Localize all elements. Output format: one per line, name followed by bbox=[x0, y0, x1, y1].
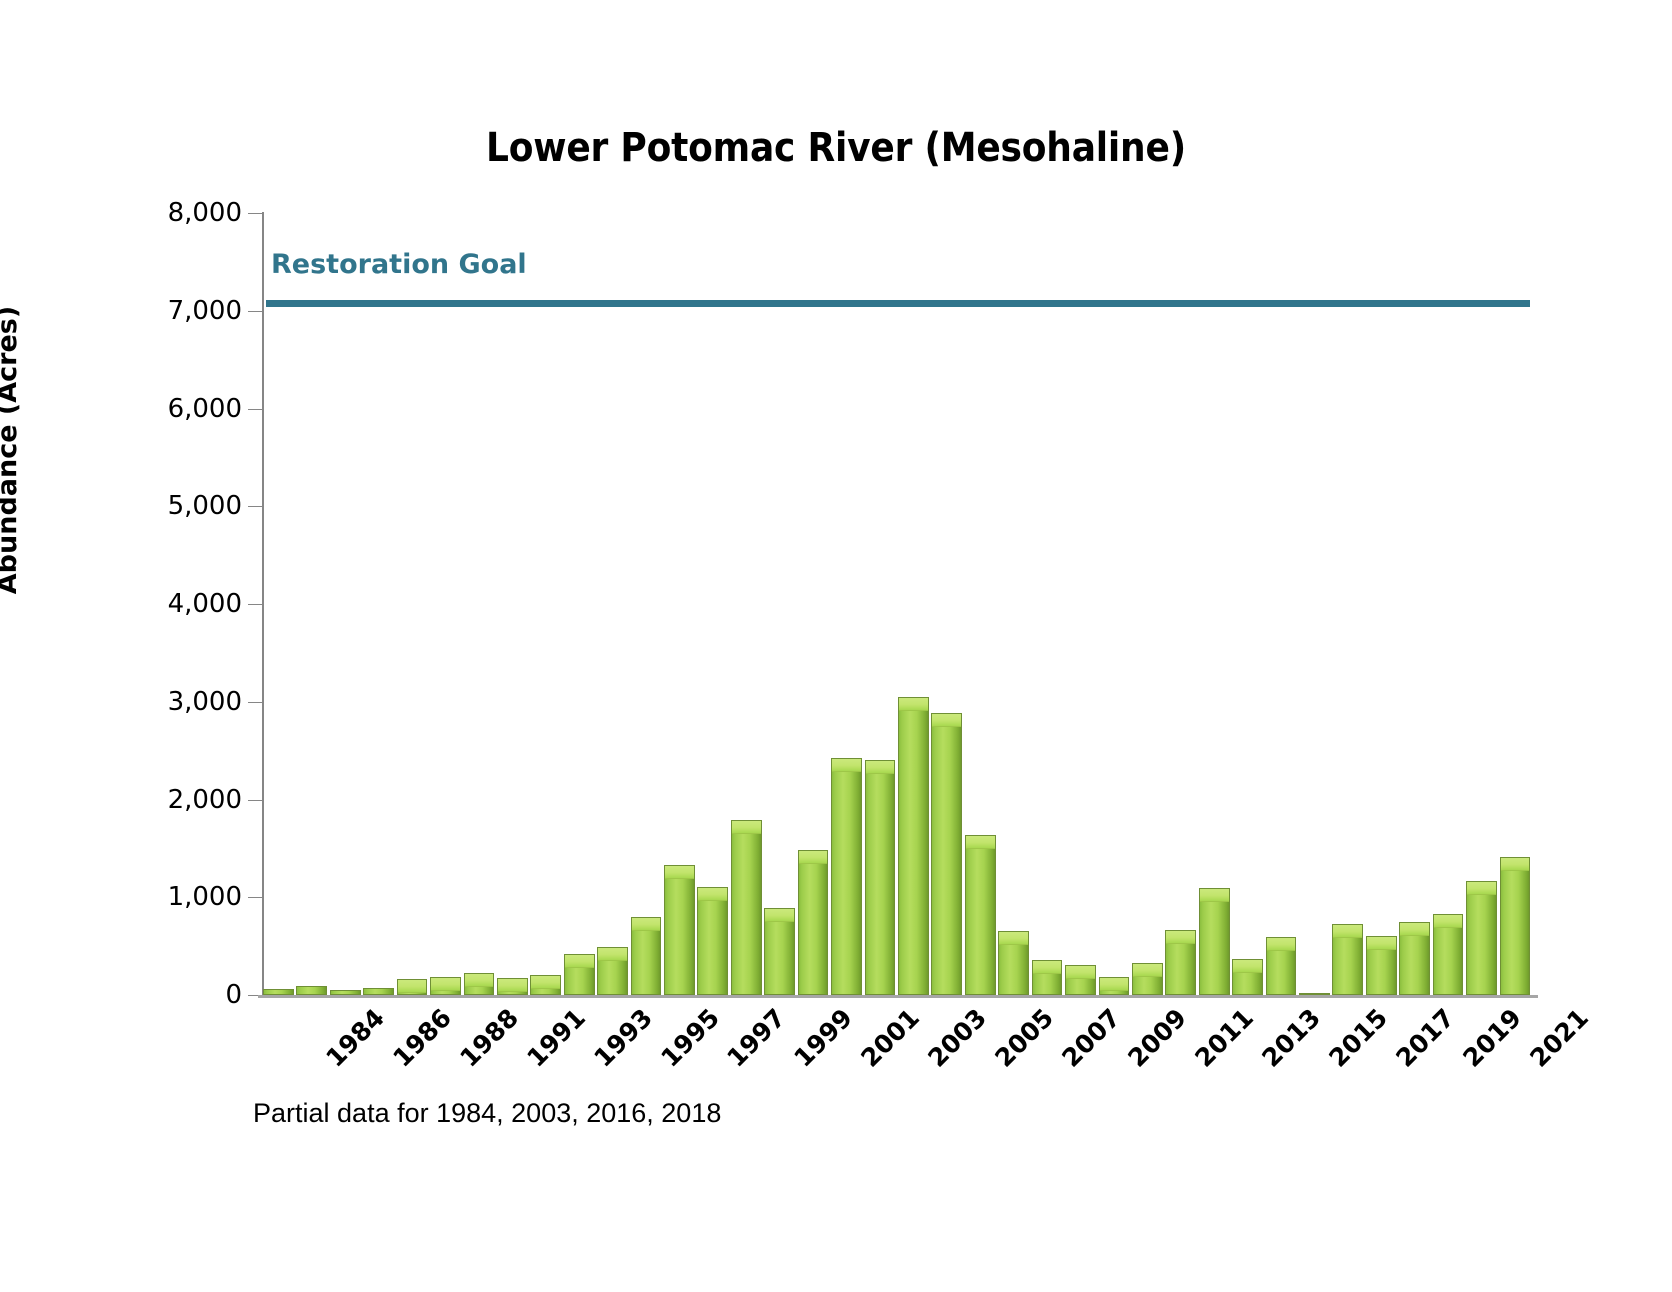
y-axis-tick bbox=[248, 311, 262, 312]
bar-slot bbox=[631, 213, 662, 995]
x-axis-tick-label: 1993 bbox=[588, 1003, 658, 1073]
bar-highlight-cap bbox=[966, 836, 995, 849]
bar-highlight-cap bbox=[1133, 964, 1162, 977]
x-axis-tick-label: 2013 bbox=[1257, 1003, 1327, 1073]
bar-slot bbox=[564, 213, 595, 995]
bar-slot bbox=[1466, 213, 1497, 995]
bar-slot bbox=[1099, 213, 1130, 995]
bar-highlight-cap bbox=[899, 698, 928, 711]
bar-slot bbox=[263, 213, 294, 995]
bar-slot bbox=[1299, 213, 1330, 995]
bar[interactable] bbox=[998, 931, 1029, 995]
bar[interactable] bbox=[1232, 959, 1263, 995]
bar-highlight-cap bbox=[832, 759, 861, 772]
bar-highlight-cap bbox=[1033, 961, 1062, 974]
bar[interactable] bbox=[731, 820, 762, 995]
bar-slot bbox=[530, 213, 561, 995]
bar-highlight-cap bbox=[1233, 960, 1262, 973]
bar-highlight-cap bbox=[465, 974, 494, 987]
bar-highlight-cap bbox=[932, 714, 961, 727]
bar-slot bbox=[764, 213, 795, 995]
bar-highlight-cap bbox=[1100, 978, 1129, 991]
x-axis-tick-label: 1999 bbox=[789, 1003, 859, 1073]
y-axis-tick-labels: 01,0002,0003,0004,0005,0006,0007,0008,00… bbox=[0, 213, 263, 995]
chart-footnote: Partial data for 1984, 2003, 2016, 2018 bbox=[253, 1098, 721, 1129]
bar[interactable] bbox=[1099, 977, 1130, 995]
bar-highlight-cap bbox=[431, 978, 460, 991]
restoration-goal-label: Restoration Goal bbox=[271, 249, 527, 280]
x-axis-tick-label: 2015 bbox=[1323, 1003, 1393, 1073]
bar-highlight-cap bbox=[1333, 925, 1362, 938]
y-axis-tick-label: 7,000 bbox=[168, 296, 242, 326]
bar-highlight-cap bbox=[1367, 937, 1396, 950]
bar-highlight-cap bbox=[1501, 858, 1530, 871]
bar[interactable] bbox=[1332, 924, 1363, 995]
bar-slot bbox=[798, 213, 829, 995]
x-axis-tick-label: 1991 bbox=[521, 1003, 591, 1073]
bar-highlight-cap bbox=[531, 976, 560, 989]
bar-slot bbox=[898, 213, 929, 995]
y-axis-tick-label: 5,000 bbox=[168, 491, 242, 521]
bar-slot bbox=[965, 213, 996, 995]
bar-highlight-cap bbox=[598, 948, 627, 961]
y-axis-tick-label: 1,000 bbox=[168, 882, 242, 912]
bar[interactable] bbox=[1199, 888, 1230, 995]
bar[interactable] bbox=[296, 986, 327, 995]
bar-highlight-cap bbox=[999, 932, 1028, 945]
y-axis-tick-label: 4,000 bbox=[168, 589, 242, 619]
bar-slot bbox=[430, 213, 461, 995]
bar-slot bbox=[865, 213, 896, 995]
bar[interactable] bbox=[831, 758, 862, 995]
y-axis-tick bbox=[248, 702, 262, 703]
bar-slot bbox=[296, 213, 327, 995]
bar-slot bbox=[998, 213, 1029, 995]
bar[interactable] bbox=[1132, 963, 1163, 995]
x-axis-tick-label: 2009 bbox=[1123, 1003, 1193, 1073]
bar[interactable] bbox=[1500, 857, 1531, 995]
y-axis-tick bbox=[248, 213, 262, 214]
bar-slot bbox=[697, 213, 728, 995]
bar-slot bbox=[363, 213, 394, 995]
bar-slot bbox=[1266, 213, 1297, 995]
y-axis-tick bbox=[248, 409, 262, 410]
y-axis-tick-label: 0 bbox=[225, 980, 242, 1010]
bar[interactable] bbox=[798, 850, 829, 995]
y-axis-tick bbox=[248, 800, 262, 801]
bar-slot bbox=[1165, 213, 1196, 995]
bar-slot bbox=[1433, 213, 1464, 995]
bar[interactable] bbox=[697, 887, 728, 996]
bar-highlight-cap bbox=[1467, 882, 1496, 895]
bar-highlight-cap bbox=[1166, 931, 1195, 944]
x-axis-tick-label: 2001 bbox=[855, 1003, 925, 1073]
y-axis-tick-label: 8,000 bbox=[168, 198, 242, 228]
bar-highlight-cap bbox=[632, 918, 661, 931]
chart-container: Lower Potomac River (Mesohaline) Abundan… bbox=[0, 0, 1672, 1292]
bar-slot bbox=[1332, 213, 1363, 995]
bar-slot bbox=[597, 213, 628, 995]
bar-highlight-cap bbox=[498, 979, 527, 992]
bar-highlight-cap bbox=[1267, 938, 1296, 951]
x-axis-tick-label: 1995 bbox=[655, 1003, 725, 1073]
y-axis-tick-label: 2,000 bbox=[168, 785, 242, 815]
bar[interactable] bbox=[597, 947, 628, 995]
bar[interactable] bbox=[497, 978, 528, 995]
bar[interactable] bbox=[764, 908, 795, 995]
restoration-goal-line bbox=[266, 300, 1530, 307]
bar-slot bbox=[731, 213, 762, 995]
bar-highlight-cap bbox=[665, 866, 694, 879]
bar-highlight-cap bbox=[1400, 923, 1429, 936]
bar-series bbox=[263, 213, 1533, 995]
bar[interactable] bbox=[430, 977, 461, 995]
x-axis-tick-label: 1986 bbox=[388, 1003, 458, 1073]
bar-slot bbox=[397, 213, 428, 995]
bar-slot bbox=[664, 213, 695, 995]
y-axis-tick bbox=[248, 897, 262, 898]
bar[interactable] bbox=[1032, 960, 1063, 995]
bar[interactable] bbox=[965, 835, 996, 995]
bar[interactable] bbox=[1266, 937, 1297, 995]
bar[interactable] bbox=[1399, 922, 1430, 995]
bar-highlight-cap bbox=[1066, 966, 1095, 979]
chart-title: Lower Potomac River (Mesohaline) bbox=[0, 125, 1672, 171]
y-axis-tick bbox=[248, 506, 262, 507]
x-axis-tick-label: 2017 bbox=[1390, 1003, 1460, 1073]
bar[interactable] bbox=[1466, 881, 1497, 995]
bar-highlight-cap bbox=[698, 888, 727, 901]
x-axis-tick-label: 2021 bbox=[1524, 1003, 1594, 1073]
y-axis-tick bbox=[248, 604, 262, 605]
bar-slot bbox=[1199, 213, 1230, 995]
bar-slot bbox=[1065, 213, 1096, 995]
x-axis-tick-label: 1997 bbox=[722, 1003, 792, 1073]
bar-highlight-cap bbox=[799, 851, 828, 864]
bar[interactable] bbox=[1165, 930, 1196, 995]
bar-highlight-cap bbox=[1200, 889, 1229, 902]
bar-highlight-cap bbox=[765, 909, 794, 922]
bar-slot bbox=[1399, 213, 1430, 995]
bar[interactable] bbox=[931, 713, 962, 995]
bar[interactable] bbox=[530, 975, 561, 995]
bar-slot bbox=[931, 213, 962, 995]
bar-slot bbox=[1232, 213, 1263, 995]
bar[interactable] bbox=[564, 954, 595, 995]
bar-slot bbox=[1366, 213, 1397, 995]
bar-highlight-cap bbox=[398, 980, 427, 993]
y-axis-tick-label: 6,000 bbox=[168, 394, 242, 424]
x-axis-tick-label: 1988 bbox=[454, 1003, 524, 1073]
bar-highlight-cap bbox=[866, 761, 895, 774]
bar[interactable] bbox=[1433, 914, 1464, 995]
plot-area: Restoration Goal bbox=[263, 213, 1533, 995]
bar[interactable] bbox=[1366, 936, 1397, 995]
bar[interactable] bbox=[397, 979, 428, 995]
x-axis-tick-label: 2005 bbox=[989, 1003, 1059, 1073]
x-axis-tick-label: 1984 bbox=[321, 1003, 391, 1073]
bar-slot bbox=[330, 213, 361, 995]
bar[interactable] bbox=[1065, 965, 1096, 995]
bar[interactable] bbox=[898, 697, 929, 995]
bar[interactable] bbox=[664, 865, 695, 995]
x-axis-tick-label: 2011 bbox=[1190, 1003, 1260, 1073]
bar[interactable] bbox=[631, 917, 662, 995]
bar[interactable] bbox=[865, 760, 896, 995]
bar-slot bbox=[464, 213, 495, 995]
x-axis-tick-label: 2019 bbox=[1457, 1003, 1527, 1073]
y-axis-tick-label: 3,000 bbox=[168, 687, 242, 717]
bar-slot bbox=[1500, 213, 1531, 995]
bar-slot bbox=[497, 213, 528, 995]
x-axis-tick-label: 2007 bbox=[1056, 1003, 1126, 1073]
bar-slot bbox=[831, 213, 862, 995]
bar-highlight-cap bbox=[565, 955, 594, 968]
bar-highlight-cap bbox=[1434, 915, 1463, 928]
x-axis-tick-label: 2003 bbox=[922, 1003, 992, 1073]
bar[interactable] bbox=[363, 988, 394, 995]
bar-highlight-cap bbox=[732, 821, 761, 834]
bar-slot bbox=[1132, 213, 1163, 995]
bar[interactable] bbox=[464, 973, 495, 995]
bar-slot bbox=[1032, 213, 1063, 995]
